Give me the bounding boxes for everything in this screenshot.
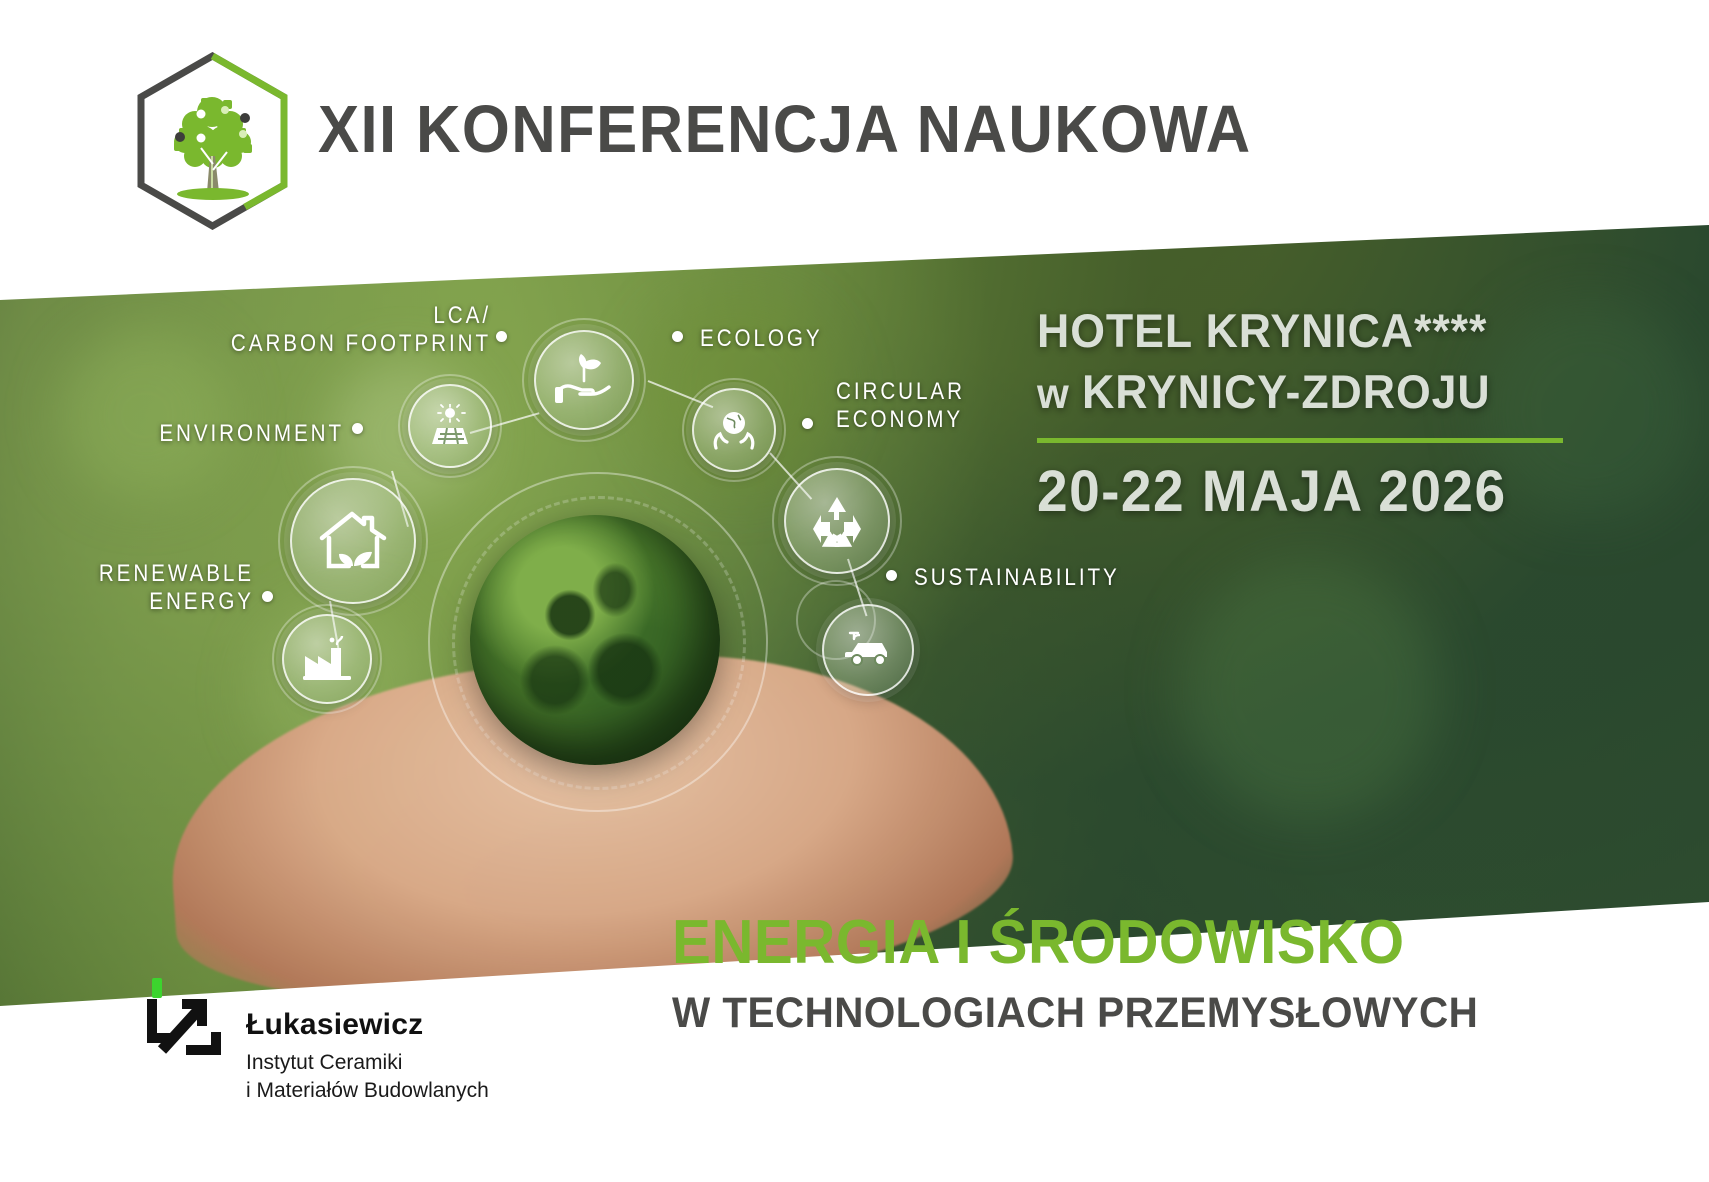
conference-banner: LCA/ CARBON FOOTPRINT ECOLOGY CIRCULAR E… bbox=[0, 0, 1709, 1182]
bullet-dot bbox=[886, 570, 897, 581]
icon-hands-globe[interactable] bbox=[692, 388, 776, 472]
venue-info-block: HOTEL KRYNICA**** w KRYNICY-ZDROJU 20-22… bbox=[1037, 305, 1597, 521]
label-lca-line2: CARBON FOOTPRINT bbox=[231, 330, 491, 357]
tagline-primary: ENERGIA I ŚRODOWISKO bbox=[672, 912, 1478, 974]
icon-eco-house[interactable] bbox=[290, 478, 416, 604]
label-ecology-text: ECOLOGY bbox=[700, 325, 823, 352]
label-renewable-energy: RENEWABLE ENERGY bbox=[36, 560, 254, 617]
lukasiewicz-text-block: Łukasiewicz Instytut Ceramiki i Materiał… bbox=[246, 978, 489, 1104]
icon-recycle[interactable] bbox=[784, 468, 890, 574]
org-line-1: Instytut Ceramiki bbox=[246, 1051, 402, 1074]
label-sustainability-text: SUSTAINABILITY bbox=[914, 564, 1120, 591]
banner-header: XII KONFERENCJA NAUKOWA bbox=[0, 0, 1709, 300]
label-sustainability: SUSTAINABILITY bbox=[914, 564, 1120, 592]
venue-city: KRYNICY-ZDROJU bbox=[1082, 365, 1491, 418]
org-name: Łukasiewicz bbox=[246, 1010, 489, 1040]
org-subtitle: Instytut Ceramiki i Materiałów Budowlany… bbox=[246, 1049, 489, 1104]
icon-factory[interactable] bbox=[282, 614, 372, 704]
label-circular-line1: CIRCULAR bbox=[836, 378, 965, 405]
lukasiewicz-mark-icon bbox=[140, 978, 232, 1074]
tagline-block: ENERGIA I ŚRODOWISKO W TECHNOLOGIACH PRZ… bbox=[672, 912, 1530, 1035]
label-circular-line2: ECONOMY bbox=[836, 406, 963, 433]
label-lca-carbon-footprint: LCA/ CARBON FOOTPRINT bbox=[216, 302, 491, 359]
venue-divider bbox=[1037, 438, 1563, 443]
lukasiewicz-logo-block: Łukasiewicz Instytut Ceramiki i Materiał… bbox=[140, 978, 489, 1104]
bullet-dot bbox=[672, 331, 683, 342]
hexagon-tree-logo bbox=[135, 52, 290, 230]
bullet-dot bbox=[802, 418, 813, 429]
org-line-2: i Materiałów Budowlanych bbox=[246, 1079, 489, 1102]
label-ecology: ECOLOGY bbox=[700, 325, 823, 353]
label-environment-text: ENVIRONMENT bbox=[159, 420, 344, 447]
venue-hotel: HOTEL KRYNICA**** bbox=[1037, 305, 1569, 358]
tagline-secondary: W TECHNOLOGIACH PRZEMYSŁOWYCH bbox=[672, 992, 1478, 1035]
label-lca-line1: LCA/ bbox=[433, 302, 491, 329]
bullet-dot bbox=[352, 423, 363, 434]
label-renewable-line1: RENEWABLE bbox=[99, 560, 254, 587]
page-title: XII KONFERENCJA NAUKOWA bbox=[318, 96, 1252, 163]
label-circular-economy: CIRCULAR ECONOMY bbox=[836, 378, 965, 435]
venue-city-prefix: w bbox=[1037, 370, 1082, 418]
venue-city-line: w KRYNICY-ZDROJU bbox=[1037, 366, 1569, 419]
bullet-dot bbox=[262, 591, 273, 602]
icon-solar-panel[interactable] bbox=[408, 384, 492, 468]
bullet-dot bbox=[496, 331, 507, 342]
venue-dates: 20-22 MAJA 2026 bbox=[1037, 463, 1569, 521]
label-renewable-line2: ENERGY bbox=[149, 588, 254, 615]
icon-hand-plant[interactable] bbox=[534, 330, 634, 430]
icon-electric-car[interactable] bbox=[822, 604, 914, 696]
label-environment: ENVIRONMENT bbox=[48, 420, 344, 448]
